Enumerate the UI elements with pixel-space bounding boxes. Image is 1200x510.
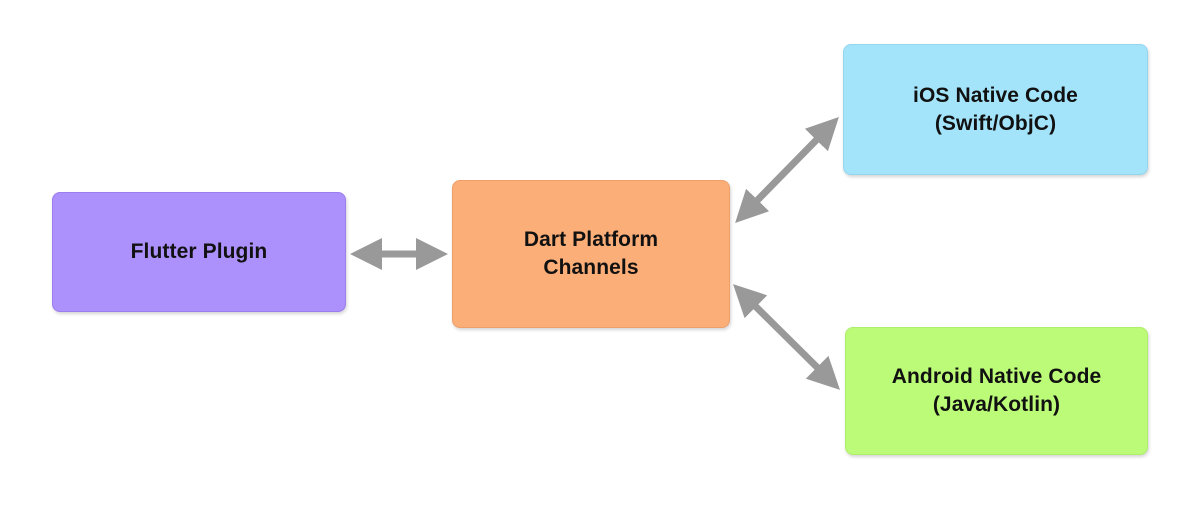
node-flutter-plugin[interactable]: Flutter Plugin — [52, 192, 346, 312]
arrow-channels-to-ios — [740, 122, 834, 218]
node-dart-platform-channels[interactable]: Dart Platform Channels — [452, 180, 730, 328]
node-ios-native-code[interactable]: iOS Native Code (Swift/ObjC) — [843, 44, 1148, 175]
node-dart-platform-channels-label: Dart Platform Channels — [453, 226, 729, 281]
arrow-channels-to-android — [738, 289, 835, 385]
node-ios-native-code-label: iOS Native Code (Swift/ObjC) — [844, 82, 1147, 137]
node-flutter-plugin-label: Flutter Plugin — [53, 238, 345, 266]
node-android-native-code-label: Android Native Code (Java/Kotlin) — [846, 363, 1147, 418]
diagram-canvas: Flutter Plugin Dart Platform Channels iO… — [0, 0, 1200, 510]
node-android-native-code[interactable]: Android Native Code (Java/Kotlin) — [845, 327, 1148, 455]
